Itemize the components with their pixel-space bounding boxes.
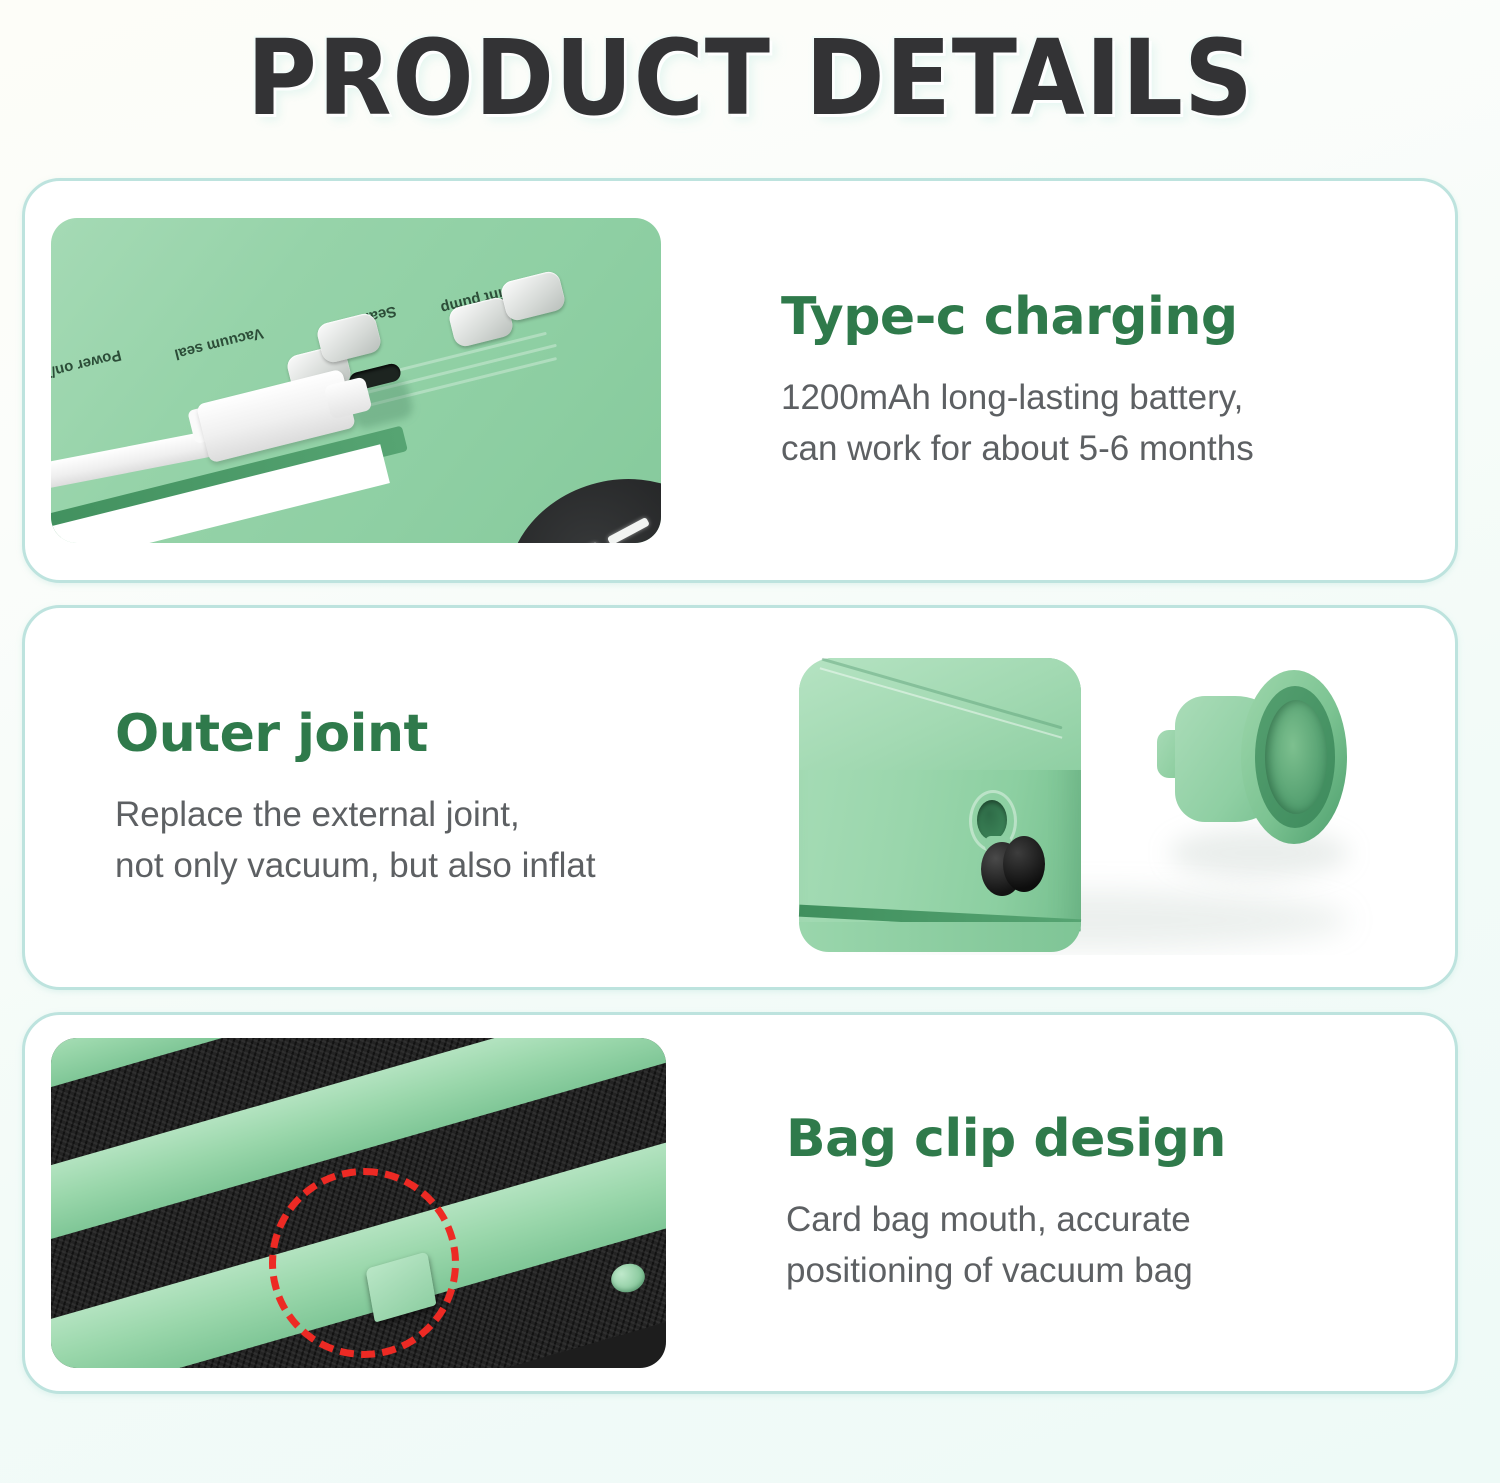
- feature-description-type-c-charging: 1200mAh long-lasting battery, can work f…: [781, 373, 1415, 475]
- display-segment: [607, 517, 650, 543]
- feature-card-list: Power on/Temperature Vacuum seal Seal it…: [22, 178, 1478, 1394]
- feature-description-line: Replace the external joint,: [115, 790, 749, 841]
- page-title: PRODUCT DETAILS: [247, 17, 1254, 139]
- outer-joint-photo: [789, 640, 1429, 955]
- bag-clip-image: [51, 1038, 666, 1368]
- outer-joint-accessory: [1175, 668, 1345, 848]
- feature-description-bag-clip-design: Card bag mouth, accurate positioning of …: [786, 1195, 1415, 1297]
- display-segment: [557, 542, 600, 543]
- highlight-circle-annotation: [269, 1168, 459, 1358]
- feature-card-outer-joint[interactable]: Outer joint Replace the external joint, …: [22, 605, 1458, 990]
- joint-socket-hole: [977, 800, 1007, 840]
- outer-joint-text: Outer joint Replace the external joint, …: [25, 704, 789, 892]
- feature-description-outer-joint: Replace the external joint, not only vac…: [115, 790, 749, 892]
- feature-heading-outer-joint: Outer joint: [115, 704, 749, 764]
- pump-body-base: [799, 922, 1081, 952]
- outer-joint-cavity: [1265, 700, 1327, 814]
- device-usb-c-port-photo: Power on/Temperature Vacuum seal Seal it…: [51, 218, 661, 543]
- bag-clip-photo: [51, 1038, 666, 1368]
- feature-heading-type-c-charging: Type-c charging: [781, 287, 1415, 347]
- outer-joint-image: [789, 640, 1429, 955]
- feature-description-line: positioning of vacuum bag: [786, 1246, 1415, 1297]
- feature-card-bag-clip-design[interactable]: Bag clip design Card bag mouth, accurate…: [22, 1012, 1458, 1394]
- type-c-charging-image: Power on/Temperature Vacuum seal Seal it…: [51, 218, 661, 543]
- feature-heading-bag-clip-design: Bag clip design: [786, 1109, 1415, 1169]
- type-c-charging-text: Type-c charging 1200mAh long-lasting bat…: [661, 287, 1455, 475]
- rubber-plug-front: [1003, 836, 1045, 892]
- feature-description-line: not only vacuum, but also inflat: [115, 841, 749, 892]
- page-header: PRODUCT DETAILS: [0, 0, 1500, 150]
- feature-card-type-c-charging[interactable]: Power on/Temperature Vacuum seal Seal it…: [22, 178, 1458, 583]
- feature-description-line: Card bag mouth, accurate: [786, 1195, 1415, 1246]
- feature-description-line: can work for about 5-6 months: [781, 424, 1415, 475]
- feature-description-line: 1200mAh long-lasting battery,: [781, 373, 1415, 424]
- bag-clip-design-text: Bag clip design Card bag mouth, accurate…: [666, 1109, 1455, 1297]
